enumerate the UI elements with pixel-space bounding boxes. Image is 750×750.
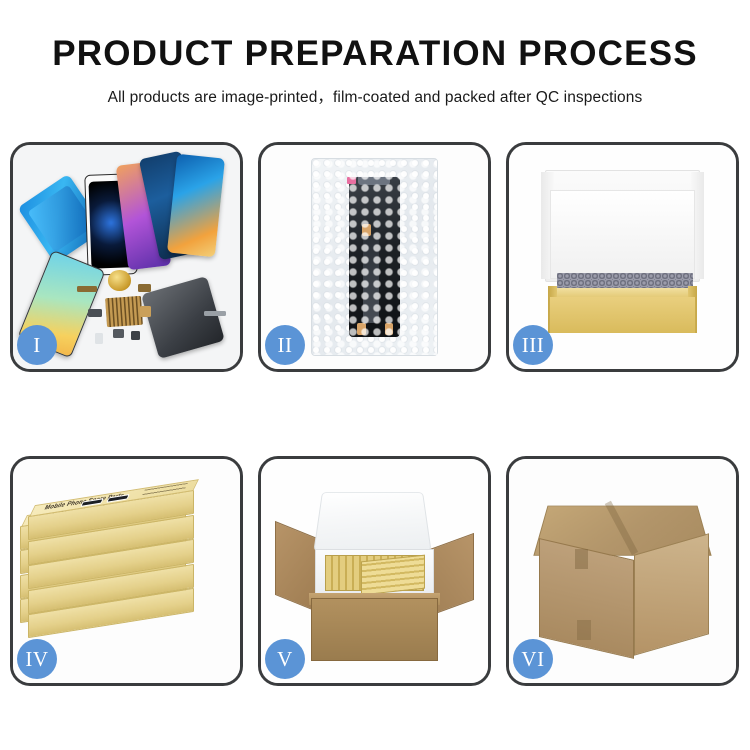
step-badge-6: VI bbox=[513, 639, 553, 679]
styrofoam-lid bbox=[313, 492, 431, 552]
kraft-box-front bbox=[550, 297, 695, 333]
small-part-b bbox=[138, 284, 152, 292]
small-part-a bbox=[77, 286, 97, 292]
carton-tape-lower bbox=[577, 620, 591, 640]
pink-qc-label bbox=[347, 177, 356, 184]
box-spec-lines-upper bbox=[142, 484, 187, 497]
phone-gradient bbox=[167, 154, 225, 257]
connector-top bbox=[362, 224, 371, 236]
step-panel-5[interactable]: V bbox=[258, 456, 491, 686]
step-badge-2: II bbox=[265, 325, 305, 365]
small-part-c bbox=[88, 309, 102, 318]
step-panel-4[interactable]: Mobile Phone Spare Parts Mobile Phone Sp… bbox=[10, 456, 243, 686]
bubble-wrap-bag bbox=[311, 158, 438, 355]
connector-bottom-left bbox=[357, 323, 366, 335]
step-panel-1[interactable]: I bbox=[10, 142, 243, 372]
page-header: PRODUCT PREPARATION PROCESS All products… bbox=[0, 0, 750, 130]
page-title: PRODUCT PREPARATION PROCESS bbox=[52, 36, 698, 71]
connector-bottom-right bbox=[385, 323, 394, 335]
step-badge-3: III bbox=[513, 325, 553, 365]
page-subtitle: All products are image-printed，film-coat… bbox=[108, 85, 643, 107]
step-panel-2[interactable]: II bbox=[258, 142, 491, 372]
small-part-d bbox=[140, 306, 151, 317]
step-badge-1: I bbox=[17, 325, 57, 365]
step-panel-6[interactable]: VI bbox=[506, 456, 739, 686]
carton-tape-upper bbox=[575, 549, 589, 569]
small-part-e bbox=[113, 329, 124, 338]
box-stack: Mobile Phone Spare Parts Mobile Phone Sp… bbox=[20, 477, 233, 665]
inner-boxes-row-back bbox=[361, 554, 425, 594]
step-badge-5: V bbox=[265, 639, 305, 679]
step-panel-3[interactable]: III bbox=[506, 142, 739, 372]
carton-front bbox=[311, 598, 438, 661]
small-part-h bbox=[204, 311, 227, 317]
phone-back-housing bbox=[141, 276, 225, 359]
white-foam-sheet bbox=[550, 190, 695, 280]
step-badge-4: IV bbox=[17, 639, 57, 679]
small-part-g bbox=[95, 333, 103, 344]
vibration-motor-part bbox=[108, 270, 131, 290]
product-preparation-page: PRODUCT PREPARATION PROCESS All products… bbox=[0, 0, 750, 750]
retail-box-lid-upper: Mobile Phone Spare Parts bbox=[29, 480, 199, 518]
process-steps-grid: I II bbox=[10, 142, 740, 738]
chip-array-part bbox=[105, 296, 143, 328]
small-part-f bbox=[131, 331, 140, 340]
carton-side-face bbox=[634, 533, 709, 655]
flex-cable bbox=[363, 234, 379, 324]
